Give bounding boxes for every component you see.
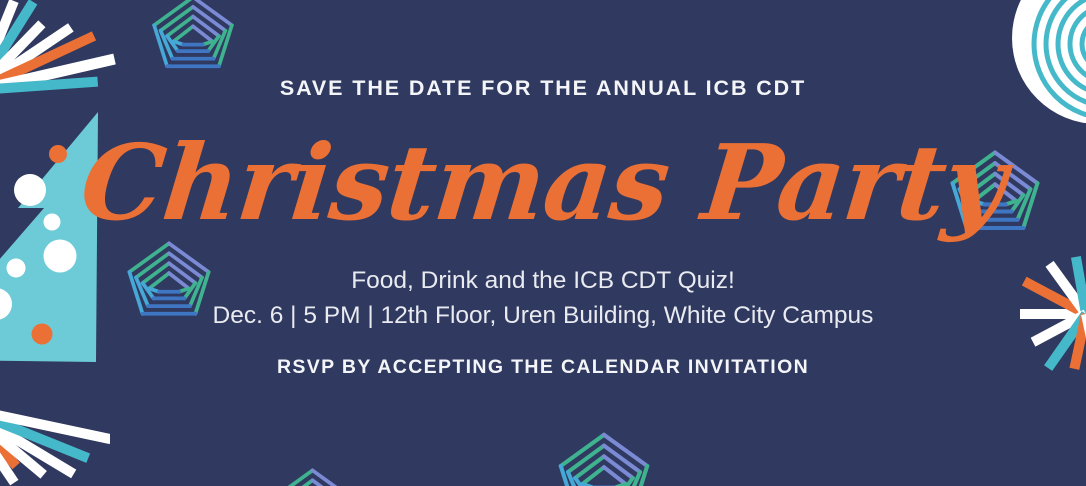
event-detail-line-2: Dec. 6 | 5 PM | 12th Floor, Uren Buildin… (213, 298, 874, 334)
event-detail-line-1: Food, Drink and the ICB CDT Quiz! (213, 263, 874, 299)
invitation-content: SAVE THE DATE FOR THE ANNUAL ICB CDT Chr… (0, 0, 1086, 486)
eyebrow-text: SAVE THE DATE FOR THE ANNUAL ICB CDT (280, 78, 806, 100)
event-details: Food, Drink and the ICB CDT Quiz! Dec. 6… (213, 263, 874, 334)
page-title: Christmas Party (76, 128, 1010, 237)
invitation-canvas: SAVE THE DATE FOR THE ANNUAL ICB CDT Chr… (0, 0, 1086, 486)
rsvp-text: RSVP BY ACCEPTING THE CALENDAR INVITATIO… (277, 358, 809, 378)
